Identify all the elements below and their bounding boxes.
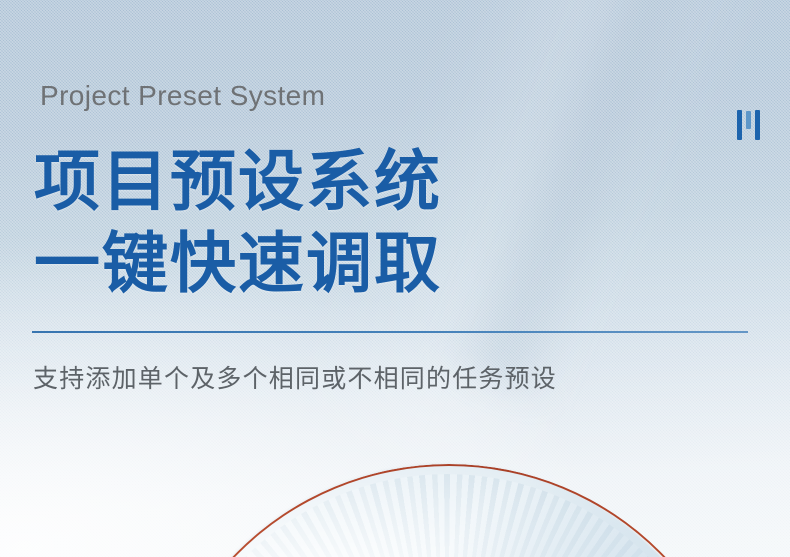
headline-line-2: 一键快速调取 [34, 222, 594, 304]
promotional-banner: Project Preset System 项目预设系统 一键快速调取 支持添加… [0, 0, 790, 557]
headline-line-1: 项目预设系统 [34, 140, 594, 222]
logo-bar-left [737, 110, 742, 140]
logo-bar-right [755, 110, 760, 140]
three-bar-logo-icon [737, 110, 765, 140]
page-title: 项目预设系统 一键快速调取 [34, 140, 594, 304]
subtitle-description: 支持添加单个及多个相同或不相同的任务预设 [33, 364, 557, 394]
title-divider-rule [32, 331, 748, 333]
logo-bar-middle [746, 111, 751, 129]
eyebrow-english-title: Project Preset System [40, 82, 325, 110]
